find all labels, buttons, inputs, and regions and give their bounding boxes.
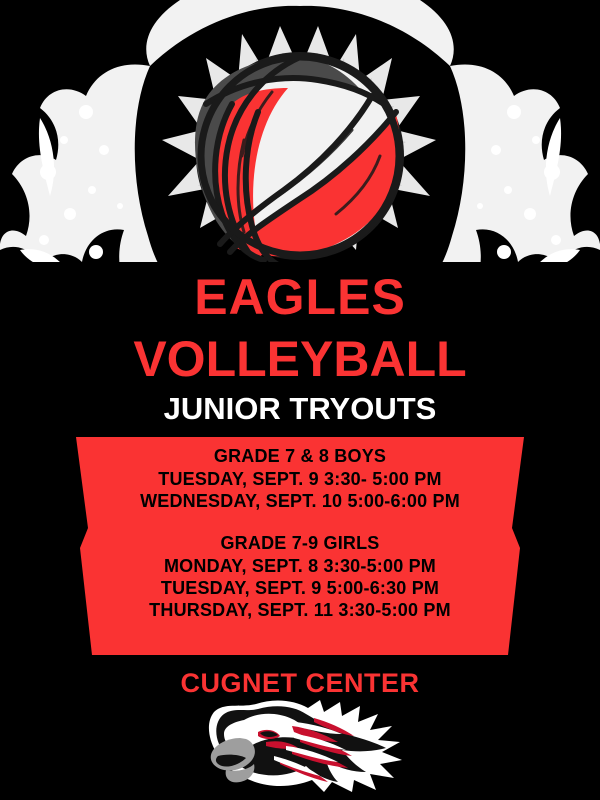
schedule-line: MONDAY, SEPT. 8 3:30-5:00 PM xyxy=(0,555,600,577)
team-title: EAGLES xyxy=(0,272,600,322)
event-subtitle: JUNIOR TRYOUTS xyxy=(0,393,600,424)
group-heading: GRADE 7 & 8 BOYS xyxy=(0,446,600,468)
schedule-line: THURSDAY, SEPT. 11 3:30-5:00 PM xyxy=(0,599,600,621)
schedule-group-girls: GRADE 7-9 GIRLS MONDAY, SEPT. 8 3:30-5:0… xyxy=(0,533,600,622)
schedule-content: GRADE 7 & 8 BOYS TUESDAY, SEPT. 9 3:30- … xyxy=(0,432,600,660)
venue-name: CUGNET CENTER xyxy=(0,668,600,699)
eagle-head-icon xyxy=(196,698,404,794)
headline-block: EAGLES VOLLEYBALL JUNIOR TRYOUTS xyxy=(0,272,600,424)
schedule-banner: GRADE 7 & 8 BOYS TUESDAY, SEPT. 9 3:30- … xyxy=(0,432,600,660)
schedule-group-boys: GRADE 7 & 8 BOYS TUESDAY, SEPT. 9 3:30- … xyxy=(0,446,600,513)
schedule-line: TUESDAY, SEPT. 9 5:00-6:30 PM xyxy=(0,577,600,599)
schedule-line: WEDNESDAY, SEPT. 10 5:00-6:00 PM xyxy=(0,490,600,512)
group-heading: GRADE 7-9 GIRLS xyxy=(0,533,600,555)
sport-title: VOLLEYBALL xyxy=(0,334,600,384)
volleyball-burst-graphic xyxy=(0,0,600,300)
volleyball-tryouts-poster: EAGLES VOLLEYBALL JUNIOR TRYOUTS GRADE 7… xyxy=(0,0,600,800)
schedule-line: TUESDAY, SEPT. 9 3:30- 5:00 PM xyxy=(0,468,600,490)
